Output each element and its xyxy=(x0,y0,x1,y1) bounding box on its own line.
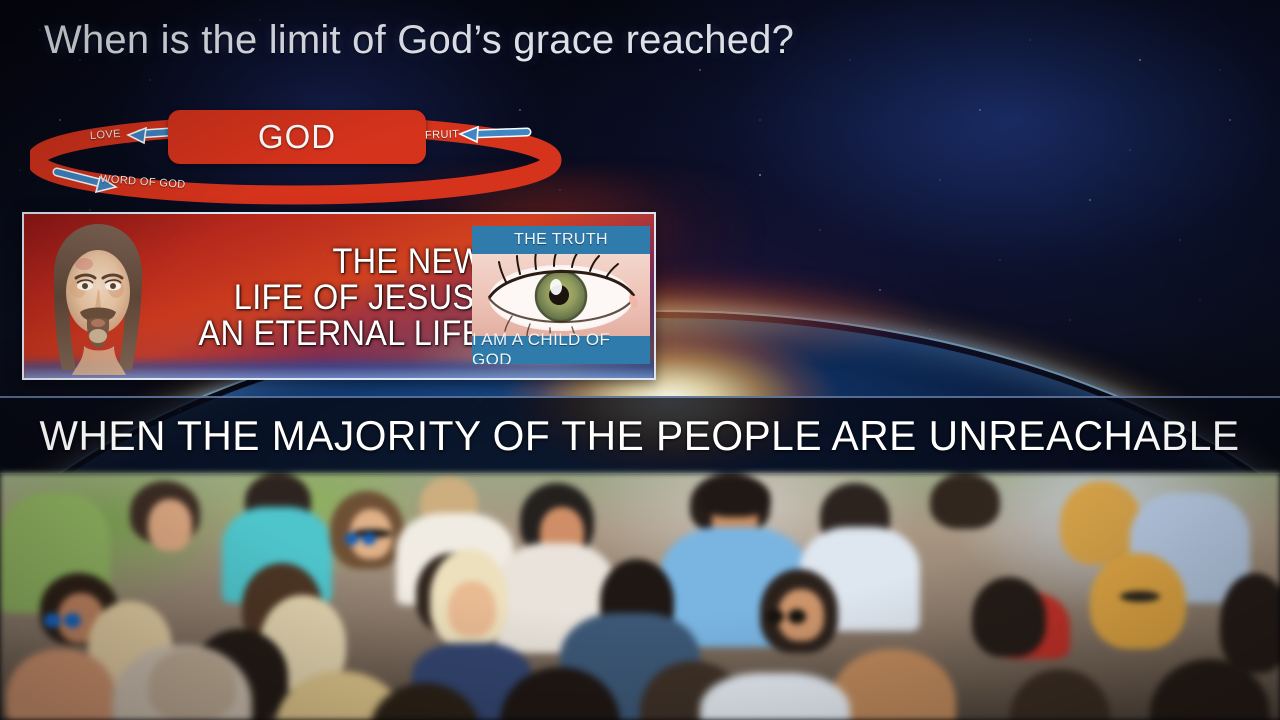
crowd-person xyxy=(700,673,850,720)
crowd-person xyxy=(448,581,496,637)
god-box-label: GOD xyxy=(258,118,336,156)
new-life-panel: THE NEW LIFE OF JESUS, AN ETERNAL LIFE T… xyxy=(22,212,656,380)
panel-heading-line-1: THE NEW xyxy=(332,244,484,280)
eye-photo xyxy=(472,254,650,336)
diagram-label-love: LOVE xyxy=(90,128,122,142)
crowd-sunglasses-icon xyxy=(44,613,61,628)
eye-icon xyxy=(472,254,650,336)
crowd-person xyxy=(148,499,192,551)
crowd-person xyxy=(972,577,1046,657)
bottom-banner: WHEN THE MAJORITY OF THE PEOPLE ARE UNRE… xyxy=(0,396,1280,474)
banner-text: WHEN THE MAJORITY OF THE PEOPLE ARE UNRE… xyxy=(40,412,1240,460)
truth-eye-card: THE TRUTH xyxy=(472,226,650,364)
panel-heading-line-3: AN ETERNAL LIFE xyxy=(199,316,484,352)
diagram-label-fruit: FRUIT xyxy=(425,128,460,141)
crowd-sunglasses-icon xyxy=(788,609,806,624)
crowd-sunglasses-icon xyxy=(766,609,784,624)
god-box: GOD xyxy=(168,110,426,164)
crowd-sunglasses-icon xyxy=(345,533,359,545)
crowd-person xyxy=(148,649,236,720)
slide-title: When is the limit of God’s grace reached… xyxy=(44,18,794,63)
crowd-photo xyxy=(0,473,1280,720)
crowd-sunglasses-icon xyxy=(64,613,81,628)
slide-canvas: When is the limit of God’s grace reached… xyxy=(0,0,1280,720)
panel-heading-line-2: LIFE OF JESUS, xyxy=(234,280,484,316)
truth-card-header: THE TRUTH xyxy=(472,226,650,254)
crowd-person xyxy=(930,473,1000,529)
crowd-sunglasses-icon xyxy=(1120,591,1160,602)
jesus-portrait-icon xyxy=(32,220,162,375)
crowd-person xyxy=(700,477,770,517)
panel-heading: THE NEW LIFE OF JESUS, AN ETERNAL LIFE xyxy=(169,218,484,378)
grace-cycle-diagram: GOD LOVE WORD OF GOD FRUIT xyxy=(30,100,570,205)
crowd-sunglasses-icon xyxy=(362,533,376,545)
truth-card-footer: I AM A CHILD OF GOD xyxy=(472,336,650,364)
crowd-person xyxy=(1220,573,1280,673)
